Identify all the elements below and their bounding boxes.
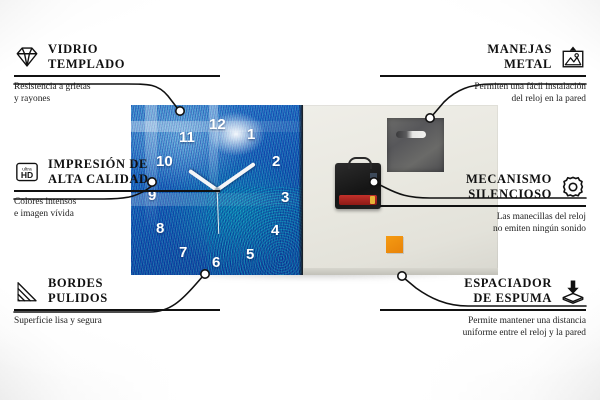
feature-title: BORDES PULIDOS [48,276,108,306]
feature-mecanismo-silencioso[interactable]: MECANISMO SILENCIOSO Las manecillas del … [380,172,586,235]
feature-rule [380,75,586,77]
feature-impresion-alta-calidad[interactable]: ultra HD IMPRESIÓN DE ALTA CALIDAD Color… [14,157,220,220]
feature-header: ultra HD IMPRESIÓN DE ALTA CALIDAD [14,157,220,187]
feature-rule [14,190,220,192]
feature-title: MANEJAS METAL [487,42,552,72]
clock-numeral-2: 2 [272,154,280,169]
clock-numeral-8: 8 [156,221,164,236]
feature-title-line1: ESPACIADOR [464,276,552,291]
feature-desc-line1: Resistencia a grietas [14,81,220,93]
hanger-slot [396,131,426,138]
foam-spacer-icon [560,278,586,304]
clock-numeral-3: 3 [281,190,289,205]
mechanism-hook [348,157,372,169]
feature-desc-line2: no emiten ningún sonido [380,223,586,235]
panel-bottom-bevel [303,268,498,275]
clock-numeral-1: 1 [247,127,255,142]
gear-icon [560,174,586,200]
feature-desc-line1: Superficie lisa y segura [14,315,220,327]
feature-desc-line1: Permiten una fácil instalación [380,81,586,93]
feature-title-line1: MECANISMO [466,172,552,187]
poster-canvas: 12 1 2 3 4 5 6 7 8 9 10 11 [0,0,600,400]
clock-numeral-7: 7 [179,245,187,260]
feature-desc-line1: Colores intensos [14,196,220,208]
clock-numeral-12: 12 [209,117,226,132]
feature-desc-line1: Las manecillas del reloj [380,211,586,223]
feature-header: VIDRIO TEMPLADO [14,42,220,72]
feature-header: BORDES PULIDOS [14,276,220,306]
framed-picture-icon [560,44,586,70]
ultra-hd-icon: ultra HD [14,159,40,185]
foam-spacer [386,236,403,253]
feature-title-line2: SILENCIOSO [466,187,552,202]
feature-desc-line2: del reloj en la pared [380,93,586,105]
feature-title-line2: ALTA CALIDAD [48,172,149,187]
feature-title-line1: IMPRESIÓN DE [48,157,149,172]
feature-title-line2: METAL [487,57,552,72]
feature-header: MECANISMO SILENCIOSO [380,172,586,202]
feature-desc-line2: uniforme entre el reloj y la pared [380,327,586,339]
feature-manejas-metal[interactable]: MANEJAS METAL Permiten una fácil instala… [380,42,586,105]
feature-desc-line2: y rayones [14,93,220,105]
feature-title-line2: TEMPLADO [48,57,125,72]
polished-edge-icon [14,278,40,304]
quartz-mechanism [335,163,381,209]
clock-numeral-5: 5 [246,247,254,262]
feature-title-line2: DE ESPUMA [464,291,552,306]
diamond-icon [14,44,40,70]
metal-hanger-plate [387,118,444,172]
feature-bordes-pulidos[interactable]: BORDES PULIDOS Superficie lisa y segura [14,276,220,327]
feature-title: VIDRIO TEMPLADO [48,42,125,72]
feature-rule [14,75,220,77]
mechanism-chip [370,173,377,178]
feature-title-line2: PULIDOS [48,291,108,306]
feature-title: MECANISMO SILENCIOSO [466,172,552,202]
feature-title-line1: VIDRIO [48,42,125,57]
feature-title-line1: MANEJAS [487,42,552,57]
feature-header: MANEJAS METAL [380,42,586,72]
feature-title-line1: BORDES [48,276,108,291]
clock-numeral-6: 6 [212,255,220,270]
clock-numeral-4: 4 [271,223,279,238]
feature-rule [380,205,586,207]
battery [339,195,377,205]
clock-numeral-11: 11 [179,130,195,145]
feature-rule [14,309,220,311]
ultra-hd-icon-large-text: HD [21,170,33,180]
feature-desc-line1: Permite mantener una distancia [380,315,586,327]
feature-title: ESPACIADOR DE ESPUMA [464,276,552,306]
feature-title: IMPRESIÓN DE ALTA CALIDAD [48,157,149,187]
feature-header: ESPACIADOR DE ESPUMA [380,276,586,306]
feature-vidrio-templado[interactable]: VIDRIO TEMPLADO Resistencia a grietas y … [14,42,220,105]
feature-espaciador-de-espuma[interactable]: ESPACIADOR DE ESPUMA Permite mantener un… [380,276,586,339]
feature-rule [380,309,586,311]
feature-desc-line2: e imagen vívida [14,208,220,220]
